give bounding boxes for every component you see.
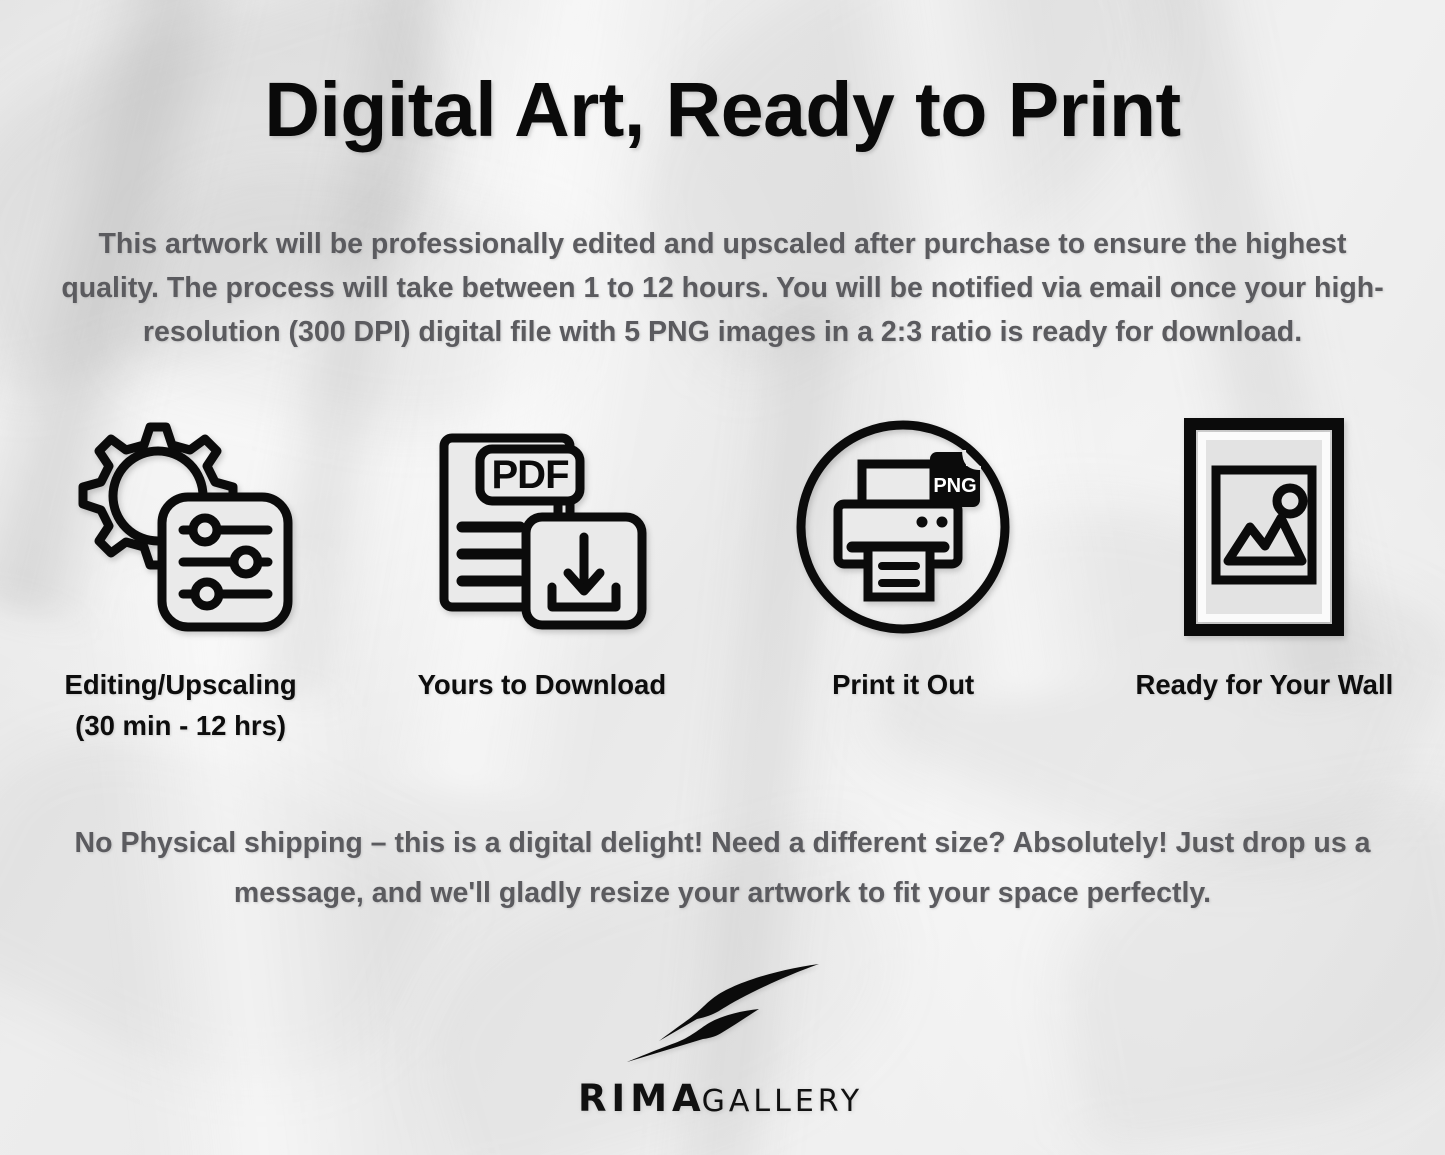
poster-content: Digital Art, Ready to Print This artwork… <box>0 0 1445 1155</box>
feature-label: Yours to Download <box>418 664 667 705</box>
printer-circle-icon: PNG <box>794 412 1012 642</box>
page-title: Digital Art, Ready to Print <box>0 72 1445 149</box>
feature-label: Print it Out <box>832 664 974 705</box>
feature-label: Editing/Upscaling (30 min - 12 hrs) <box>65 664 297 746</box>
brand-name-secondary: GALLERY <box>702 1084 863 1119</box>
framed-picture-icon <box>1184 412 1344 642</box>
feature-label: Ready for Your Wall <box>1136 664 1394 705</box>
poster-page: Digital Art, Ready to Print This artwork… <box>0 0 1445 1155</box>
outro-paragraph: No Physical shipping – this is a digital… <box>58 818 1388 918</box>
gear-sliders-icon <box>66 412 296 642</box>
feature-item-editing-upscaling: Editing/Upscaling (30 min - 12 hrs) <box>0 412 361 746</box>
pdf-badge-text: PDF <box>491 453 568 497</box>
intro-paragraph: This artwork will be professionally edit… <box>47 222 1399 354</box>
feature-item-wall: Ready for Your Wall <box>1084 412 1445 705</box>
double-swoosh-logo-icon <box>623 958 823 1073</box>
feature-row: Editing/Upscaling (30 min - 12 hrs) <box>0 412 1445 746</box>
png-badge-text: PNG <box>933 475 976 497</box>
brand-name: RIMA GALLERY <box>578 1077 867 1120</box>
brand-name-primary: RIMA <box>578 1077 706 1120</box>
feature-item-print: PNG Print it Out <box>723 412 1084 705</box>
brand-block: RIMA GALLERY <box>0 958 1445 1120</box>
feature-item-download: PDF Yours to Download <box>361 412 722 705</box>
pdf-download-icon: PDF <box>436 412 648 642</box>
